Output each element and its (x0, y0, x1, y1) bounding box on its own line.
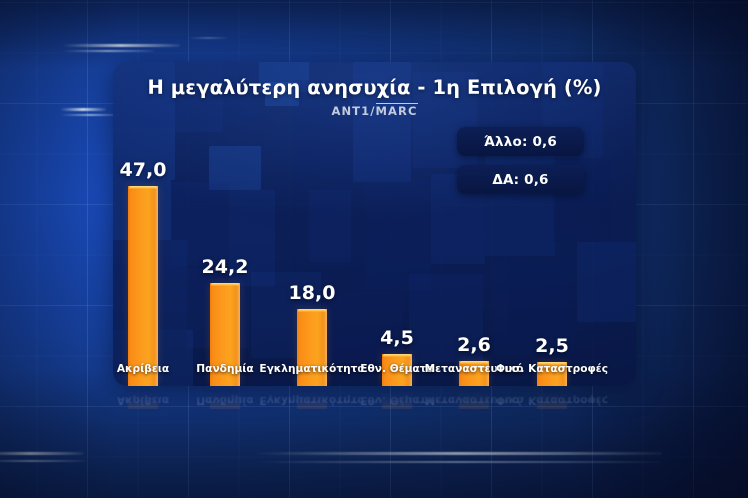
bar-value-1: 24,2 (202, 256, 249, 278)
bar-value-3: 4,5 (380, 327, 414, 349)
reflection-category-5: Φυσ. Καταστροφές (496, 394, 608, 406)
bar-value-4: 2,6 (457, 334, 491, 356)
bar-category-0: Ακρίβεια (117, 363, 169, 375)
bar-group-4[interactable]: 2,6 Μεταναστευτικό (459, 62, 489, 386)
bar-group-5[interactable]: 2,5 Φυσ. Καταστροφές (537, 62, 567, 386)
bar-value-2: 18,0 (289, 282, 336, 304)
chart-panel: Η μεγαλύτερη ανησυχία - 1η Επιλογή (%) Α… (113, 62, 636, 386)
bar-value-0: 47,0 (120, 159, 167, 181)
broadcast-chart-screenshot: Η μεγαλύτερη ανησυχία - 1η Επιλογή (%) Α… (0, 0, 748, 498)
bar-group-2[interactable]: 18,0 Εγκληματικότητα (297, 62, 327, 386)
panel-reflection: Ακρίβεια Πανδημία Εγκληματικότητα Εθν. Θ… (113, 387, 636, 409)
bar-category-2: Εγκληματικότητα (259, 363, 364, 375)
reflection-category-0: Ακρίβεια (117, 394, 169, 406)
reflection-category-2: Εγκληματικότητα (259, 394, 364, 406)
bar-group-1[interactable]: 24,2 Πανδημία (210, 62, 240, 386)
bar-0[interactable] (128, 186, 158, 386)
reflection-category-3: Εθν. Θέματα (360, 394, 433, 406)
bar-category-3: Εθν. Θέματα (360, 363, 433, 375)
bar-value-5: 2,5 (535, 335, 569, 357)
bar-group-0[interactable]: 47,0 Ακρίβεια (128, 62, 158, 386)
bar-category-1: Πανδημία (196, 363, 253, 375)
bar-group-3[interactable]: 4,5 Εθν. Θέματα (382, 62, 412, 386)
bar-category-5: Φυσ. Καταστροφές (496, 363, 608, 375)
plot-area: 47,0 Ακρίβεια 24,2 Πανδημία 18,0 Εγκλημα… (113, 62, 636, 386)
reflection-category-1: Πανδημία (196, 394, 253, 406)
